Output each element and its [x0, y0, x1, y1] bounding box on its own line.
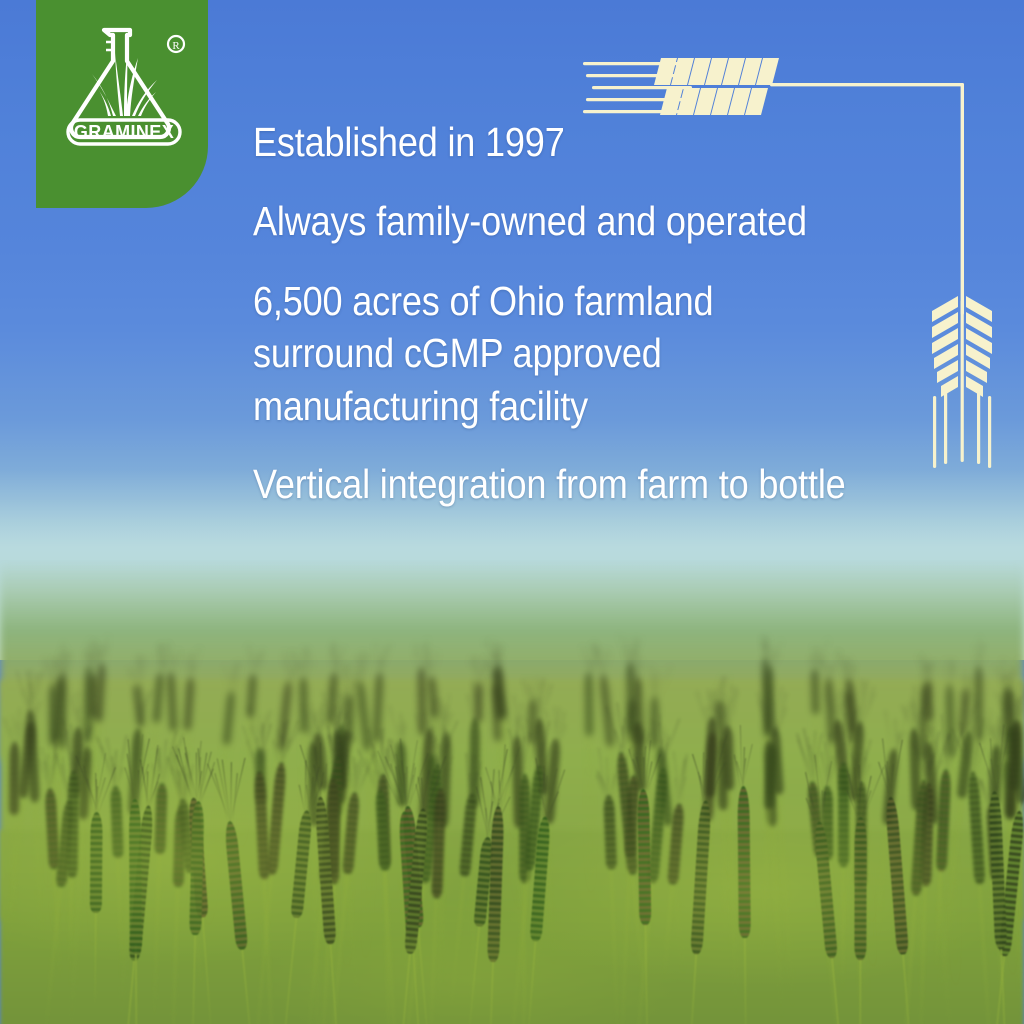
- svg-text:R: R: [172, 40, 180, 52]
- wheat-head: [66, 770, 79, 877]
- brand-logo-panel[interactable]: GRAMINEX R: [36, 0, 208, 208]
- wheat-head: [374, 789, 390, 871]
- wheat-head: [935, 769, 951, 871]
- wheat-head: [637, 789, 652, 925]
- brand-wordmark: GRAMINEX: [74, 122, 174, 142]
- wheat-stalk: [736, 786, 753, 1024]
- wheat-head: [129, 799, 142, 954]
- claim-established: Established in 1997: [253, 116, 860, 169]
- wheat-head: [602, 795, 616, 870]
- wheat-head: [431, 788, 446, 898]
- wheat-head: [189, 801, 205, 935]
- wheat-stalk: [582, 672, 598, 898]
- wheat-head: [585, 672, 594, 736]
- wheat-head: [48, 684, 57, 746]
- wheat-head: [167, 672, 178, 731]
- wheat-head: [837, 763, 848, 867]
- flask-with-grass-icon: GRAMINEX R: [58, 20, 190, 152]
- registered-trademark-icon: R: [168, 36, 184, 52]
- wheat-awn: [249, 657, 250, 678]
- wheat-stalk: [63, 770, 80, 969]
- wheat-head: [153, 783, 166, 854]
- wheat-head: [854, 817, 867, 960]
- wheat-stalk: [6, 742, 22, 930]
- claims-text-block: Established in 1997 Always family-owned …: [253, 116, 943, 511]
- wheat-head: [246, 674, 257, 718]
- claim-vertical-integration: Vertical integration from farm to bottle: [253, 458, 860, 511]
- wheat-head: [723, 726, 734, 790]
- infographic-canvas: GRAMINEX R Established in 1997 Always fa…: [0, 0, 1024, 1024]
- wheat-head: [764, 743, 777, 810]
- wheat-field-background: [0, 560, 1024, 1024]
- wheat-head: [26, 710, 40, 803]
- wheat-head: [109, 786, 123, 858]
- wheat-head: [492, 668, 505, 722]
- wheat-stalk: [88, 812, 104, 1009]
- claim-family-owned: Always family-owned and operated: [253, 195, 860, 248]
- wheat-head: [152, 672, 164, 722]
- wheat-head: [737, 786, 751, 938]
- wheat-head: [222, 691, 235, 745]
- wheat-head: [183, 677, 195, 730]
- wheat-awn: [851, 662, 852, 683]
- wheat-head: [810, 669, 819, 714]
- claim-acreage-facility: 6,500 acres of Ohio farmland surround cG…: [253, 275, 860, 432]
- wheat-head: [90, 812, 103, 913]
- wheat-stalk: [128, 799, 144, 1024]
- wheat-stalk: [853, 817, 868, 1024]
- wheat-head: [9, 742, 19, 815]
